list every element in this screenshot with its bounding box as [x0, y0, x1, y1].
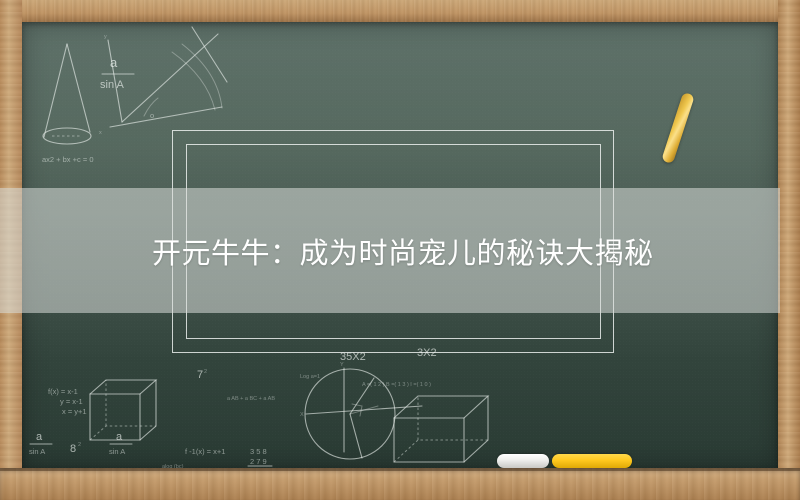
- matrix-3x3: 3 5 8 2 7 9: [248, 447, 272, 466]
- blackboard-banner: a sin A ax2 + bx +c = 0 y x: [0, 0, 800, 500]
- log-a-equals-one: Log a=1: [300, 374, 320, 380]
- svg-text:y = x-1: y = x-1: [60, 397, 83, 406]
- chalkboard-texture: [22, 22, 778, 468]
- frame-bottom-ledge: [0, 468, 800, 500]
- yellow-chalk-piece-icon: [552, 454, 632, 468]
- svg-text:8: 8: [70, 443, 76, 455]
- chalk-drawings: a sin A ax2 + bx +c = 0 y x: [22, 22, 778, 468]
- frame-top-rail: [0, 0, 800, 22]
- svg-text:y: y: [104, 34, 107, 40]
- inverse-function-formula: f -1(x) = x+1: [185, 447, 225, 456]
- angle-arc-diagram: y x o: [99, 27, 227, 136]
- frame-left-rail: [0, 0, 22, 500]
- svg-text:x: x: [99, 130, 102, 136]
- function-formulas: f(x) = x-1 y = x-1 x = y+1: [48, 387, 87, 416]
- svg-text:sin A: sin A: [29, 447, 45, 456]
- frame-right-rail: [778, 0, 800, 500]
- svg-text:sin A: sin A: [109, 447, 125, 456]
- svg-text:2: 2: [78, 442, 81, 448]
- chalkboard-surface: a sin A ax2 + bx +c = 0 y x: [22, 22, 778, 468]
- svg-text:a: a: [116, 431, 123, 443]
- svg-text:f(x) = x-1: f(x) = x-1: [48, 387, 78, 396]
- svg-text:Y: Y: [340, 362, 344, 368]
- law-of-sines-bottom-center: a sin A: [109, 431, 132, 456]
- matrix-notation-row: A =( 1 2 ) B =( 1 3 ) I =( 1 0 ): [362, 382, 431, 388]
- svg-text:a: a: [36, 431, 43, 443]
- eight-squared: 8 2: [70, 442, 81, 455]
- svg-text:o: o: [150, 111, 154, 120]
- quadratic-formula: ax2 + bx +c = 0: [42, 155, 94, 164]
- gold-chalk-stick-icon: [661, 92, 695, 164]
- svg-text:sin A: sin A: [100, 79, 125, 91]
- svg-text:X: X: [300, 412, 304, 418]
- svg-text:3 5 8: 3 5 8: [250, 447, 267, 456]
- svg-text:2 7 9: 2 7 9: [250, 457, 267, 466]
- svg-text:x = y+1: x = y+1: [62, 407, 87, 416]
- label-35x2: 35X2: [340, 351, 366, 363]
- cube-wireframe-left: [90, 380, 156, 440]
- label-3x2: 3X2: [417, 347, 437, 359]
- svg-text:a: a: [110, 55, 118, 70]
- white-chalk-piece-icon: [497, 454, 549, 468]
- svg-text:2: 2: [204, 369, 207, 375]
- cube-wireframe-right: [394, 396, 488, 462]
- law-of-sines-top: a sin A: [100, 55, 134, 91]
- svg-text:7: 7: [197, 369, 203, 381]
- cone-diagram: [43, 44, 91, 144]
- seven-squared: 7 2: [197, 369, 207, 381]
- misc-small-equation: a AB + a BC + a AB: [227, 396, 275, 402]
- law-of-sines-bottom-left: a sin A: [29, 431, 52, 456]
- unit-circle-diagram: Y X: [300, 362, 422, 459]
